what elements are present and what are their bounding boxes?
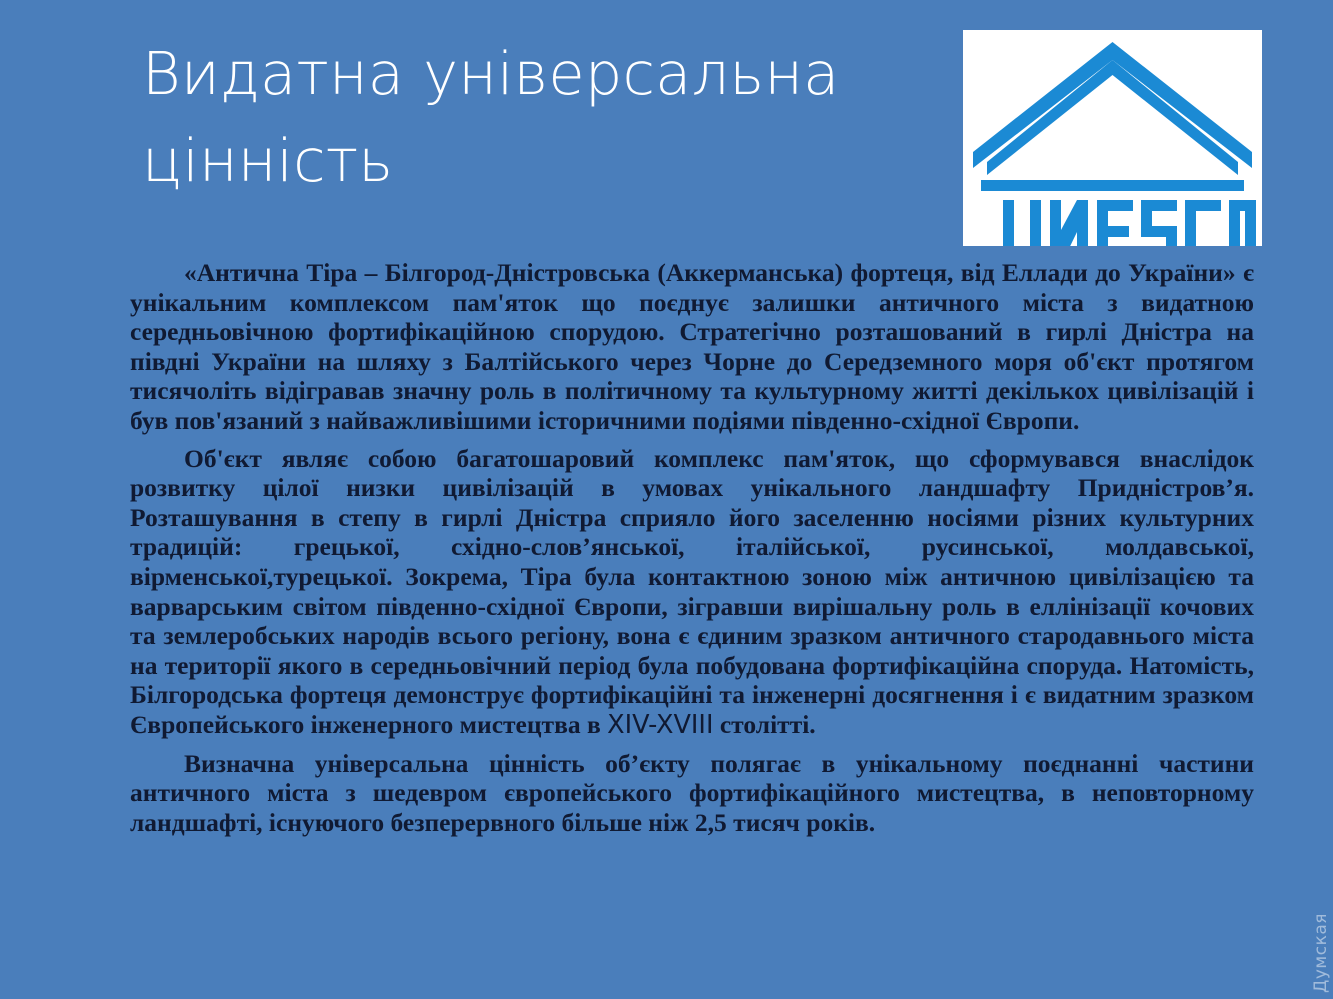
paragraph-2: Об'єкт являє собою багатошаровий комплек… (130, 444, 1254, 741)
title-block: Видатна універсальна цінність (142, 30, 932, 204)
page-title: Видатна універсальна цінність (142, 30, 932, 204)
paragraph-3: Визначна універсальна цінність об’єкту п… (130, 749, 1254, 838)
paragraph-2-part-b: столітті. (713, 710, 815, 739)
unesco-logo-icon (963, 30, 1262, 246)
slide-canvas: Видатна універсальна цінність (0, 0, 1333, 999)
watermark-dumskaya: Думская (1311, 913, 1331, 993)
paragraph-2-part-a: Об'єкт являє собою багатошаровий комплек… (130, 444, 1254, 739)
unesco-logo (963, 30, 1262, 246)
body-text-container: «Антична Тіра – Білгород-Дністровська (А… (130, 258, 1254, 837)
paragraph-2-roman-numerals: XIV-XVIII (607, 710, 713, 740)
paragraph-1: «Антична Тіра – Білгород-Дністровська (А… (130, 258, 1254, 436)
